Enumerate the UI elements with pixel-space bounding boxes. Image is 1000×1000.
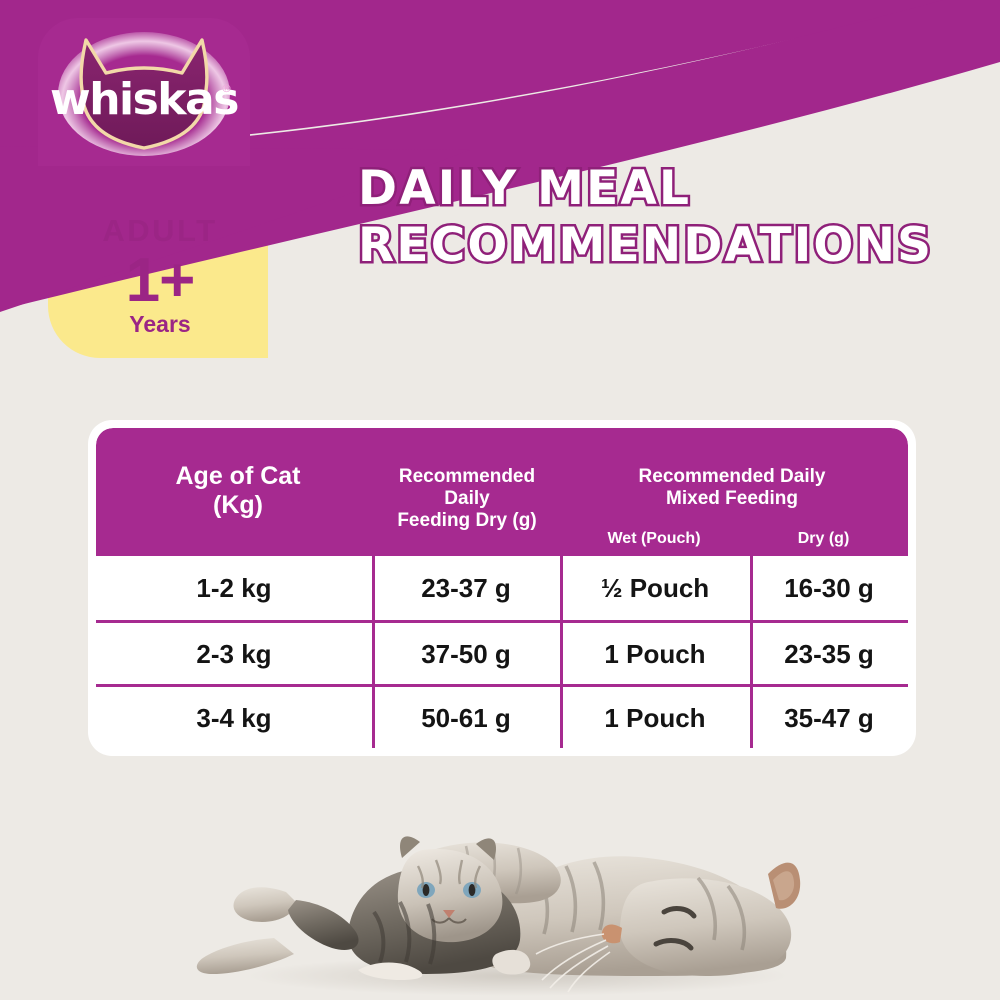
column-subheader-wet: Wet (Pouch) [564,530,744,549]
cell-dry: 37-50 g [372,641,560,667]
column-header-mixed-line1: Recommended Daily [564,466,900,488]
table-row: 2-3 kg 37-50 g 1 Pouch 23-35 g [96,620,908,684]
badge-unit-label: Years [50,313,270,336]
column-header-age-line2: (Kg) [104,491,372,520]
cell-wet: ½ Pouch [560,575,750,601]
whiskas-logo: whiskas ® [38,18,250,166]
column-header-dry-line1: Recommended Daily [374,466,560,510]
infographic-root: whiskas ® ADULT 1+ Years DAILY MEAL RECO… [0,0,1000,1000]
cell-age: 1-2 kg [96,575,372,601]
feeding-table: Age of Cat (Kg) Recommended Daily Feedin… [96,428,908,748]
cell-mixed-dry: 16-30 g [750,575,908,601]
badge-stage-label: ADULT [50,215,270,246]
column-header-age-line1: Age of Cat [104,462,372,491]
feeding-table-card: Age of Cat (Kg) Recommended Daily Feedin… [88,420,916,756]
logo-wordmark-text: whiskas ® [50,74,238,125]
registered-mark: ® [221,82,232,95]
column-subheader-dry: Dry (g) [746,530,901,549]
badge-age-label: 1+ [50,246,270,315]
table-row: 1-2 kg 23-37 g ½ Pouch 16-30 g [96,556,908,620]
column-header-dry: Recommended Daily Feeding Dry (g) [374,466,560,532]
column-header-dry-line2: Feeding Dry (g) [374,510,560,532]
cell-dry: 23-37 g [372,575,560,601]
cat-and-kitten-photo [178,762,826,1000]
page-title-line2: RECOMMENDATIONS [358,217,978,274]
cell-mixed-dry: 35-47 g [750,705,908,731]
column-header-mixed: Recommended Daily Mixed Feeding [564,466,900,510]
page-title: DAILY MEAL RECOMMENDATIONS [358,160,978,275]
cell-wet: 1 Pouch [560,641,750,667]
cell-wet: 1 Pouch [560,705,750,731]
svg-text:whiskas: whiskas [50,74,238,125]
column-header-age: Age of Cat (Kg) [104,462,372,520]
table-row: 3-4 kg 50-61 g 1 Pouch 35-47 g [96,684,908,748]
table-header: Age of Cat (Kg) Recommended Daily Feedin… [96,428,908,556]
cell-mixed-dry: 23-35 g [750,641,908,667]
adult-badge: ADULT 1+ Years [50,215,270,336]
column-header-mixed-line2: Mixed Feeding [564,488,900,510]
cell-age: 3-4 kg [96,705,372,731]
cell-dry: 50-61 g [372,705,560,731]
page-title-line1: DAILY MEAL [358,160,978,217]
cell-age: 2-3 kg [96,641,372,667]
